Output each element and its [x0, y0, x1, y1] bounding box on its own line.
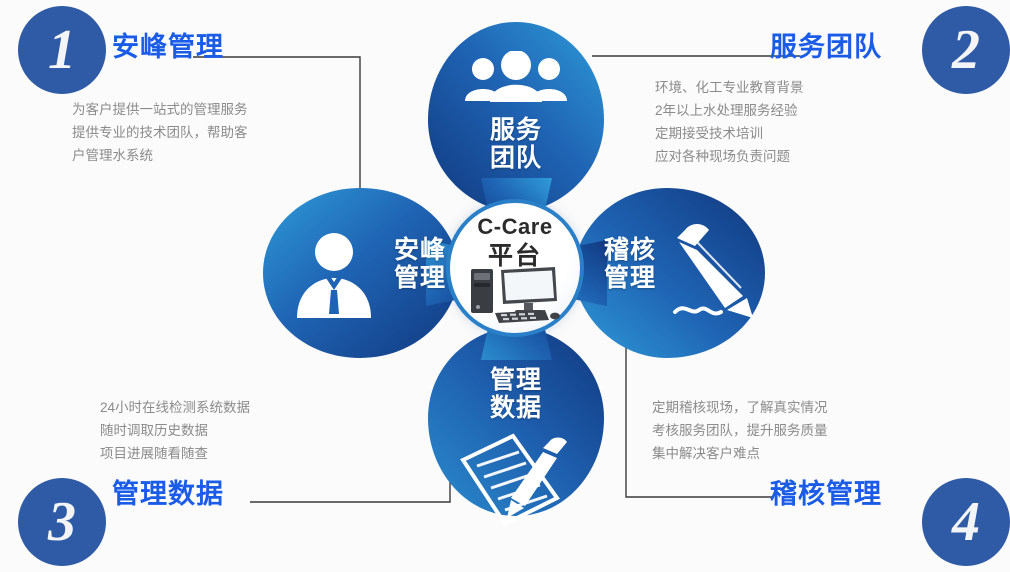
body-line: 24小时在线检测系统数据 — [100, 396, 250, 419]
body-line: 随时调取历史数据 — [100, 419, 250, 442]
people-group-icon — [461, 51, 571, 103]
section-heading-4: 稽核管理 — [770, 472, 882, 511]
section-body-3: 24小时在线检测系统数据 随时调取历史数据 项目进展随看随查 — [100, 396, 250, 465]
petal-label-line: 管理 — [436, 366, 596, 394]
body-line: 项目进展随看随查 — [100, 442, 250, 465]
petal-cluster: 服务 团队 稽核 管理 管理 数据 — [255, 8, 785, 528]
business-person-icon — [295, 228, 373, 320]
petal-label-service-team: 服务 团队 — [436, 116, 596, 172]
infographic-canvas: 1 2 3 4 安峰管理 服务团队 管理数据 稽核管理 为客户提供一站式的管理服… — [0, 0, 1010, 572]
desktop-computer-icon — [469, 265, 561, 323]
petal-label-data-management: 管理 数据 — [436, 366, 596, 422]
section-heading-2: 服务团队 — [770, 25, 882, 64]
body-line: 为客户提供一站式的管理服务 — [72, 98, 248, 121]
section-body-1: 为客户提供一站式的管理服务 提供专业的技术团队，帮助客 户管理水系统 — [72, 98, 248, 167]
clipboard-pencil-icon — [453, 426, 583, 534]
badge-number-4: 4 — [922, 478, 1010, 566]
pencil-writing-icon — [669, 216, 761, 324]
badge-number-2: 2 — [922, 6, 1010, 94]
section-heading-3: 管理数据 — [112, 472, 224, 511]
petal-label-line: 数据 — [436, 394, 596, 422]
petal-label-line: 服务 — [436, 116, 596, 144]
badge-number-1: 1 — [18, 6, 106, 94]
body-line: 户管理水系统 — [72, 144, 248, 167]
badge-number-3: 3 — [18, 478, 106, 566]
center-hub: C-Care 平台 — [450, 203, 580, 333]
petal-label-line: 稽核 — [587, 236, 673, 264]
petal-label-line: 团队 — [436, 144, 596, 172]
petal-label-line: 管理 — [587, 264, 673, 292]
body-line: 提供专业的技术团队，帮助客 — [72, 121, 248, 144]
petal-label-audit-management: 稽核 管理 — [587, 236, 673, 292]
section-heading-1: 安峰管理 — [112, 25, 224, 64]
